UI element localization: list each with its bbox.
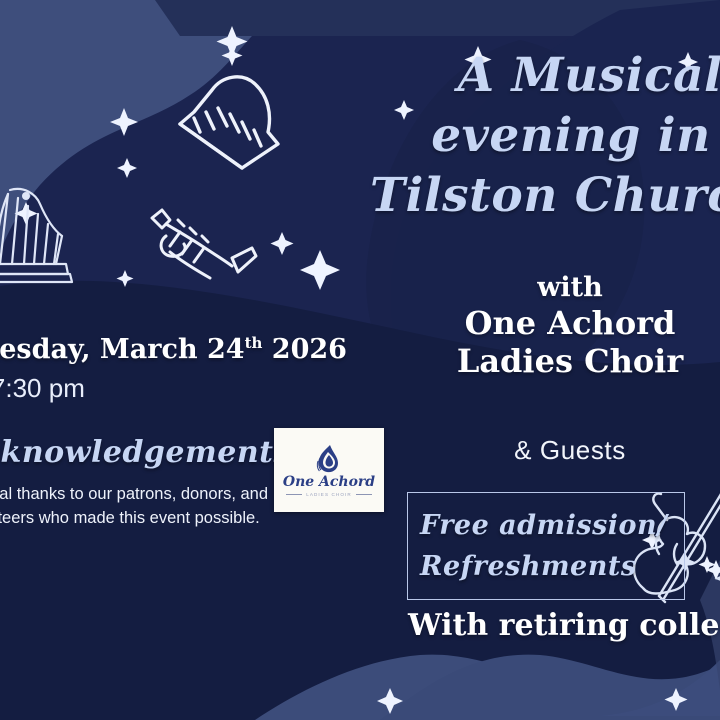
page-title: A Musical evening in Tilston Church: [330, 46, 720, 226]
piano-icon: [160, 52, 300, 172]
admission-box: Free admission/ Refreshments: [407, 492, 685, 600]
choir-name-line-1: One Achord: [420, 304, 720, 342]
guests-label: & Guests: [420, 435, 720, 466]
acknowledgements-block: Acknowledgements Special thanks to our p…: [0, 436, 278, 531]
with-label: with: [420, 272, 720, 304]
logo-subtitle-row: LADIES CHOIR: [286, 492, 372, 497]
choir-name-line-2: Ladies Choir: [420, 342, 720, 380]
admission-line-2: Refreshments: [420, 546, 684, 587]
logo-rule-right: [356, 494, 372, 495]
retiring-collection-label: With retiring collection: [408, 608, 720, 643]
choir-logo: One Achord LADIES CHOIR: [274, 428, 384, 512]
logo-subtitle: LADIES CHOIR: [306, 492, 352, 497]
logo-rule-left: [286, 494, 302, 495]
headline-line-1: A Musical: [420, 46, 720, 106]
acknowledgements-title: Acknowledgements: [0, 436, 278, 469]
event-year: 2026: [262, 334, 347, 365]
headline-line-2: evening in: [382, 106, 720, 166]
date-ordinal: th: [245, 334, 263, 352]
performer-block: with One Achord Ladies Choir: [420, 272, 720, 381]
event-time: at 7:30 pm: [0, 373, 292, 404]
headline-line-3: Tilston Church: [370, 166, 720, 226]
event-poster: A Musical evening in Tilston Church with…: [0, 0, 720, 720]
event-datetime: Tuesday, March 24th 2026 at 7:30 pm: [0, 334, 292, 404]
trumpet-icon: [140, 196, 265, 296]
event-date: Tuesday, March 24th 2026: [0, 334, 292, 365]
flame-logo-icon: [316, 444, 342, 474]
admission-line-1: Free admission/: [420, 505, 684, 546]
event-date-text: Tuesday, March 24: [0, 334, 245, 365]
logo-name: One Achord: [283, 475, 375, 489]
acknowledgements-body: Special thanks to our patrons, donors, a…: [0, 483, 278, 531]
harp-icon: [0, 168, 86, 288]
